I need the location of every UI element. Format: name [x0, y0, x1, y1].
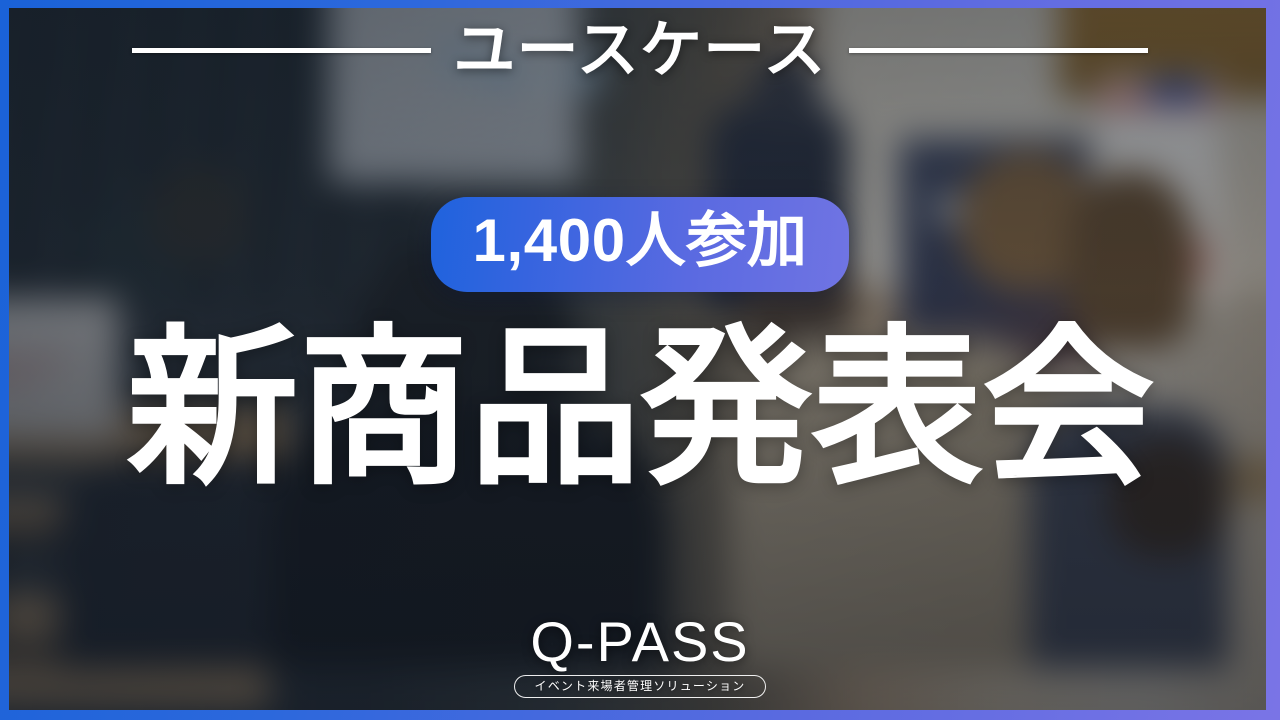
- brand-wordmark: Q-PASS: [530, 614, 749, 670]
- promo-banner: ユースケース 1,400人参加 新商品発表会 Q-PASS イベント来場者管理ソ…: [0, 0, 1280, 720]
- kicker-row: ユースケース: [0, 18, 1280, 83]
- page-title: 新商品発表会: [127, 322, 1154, 497]
- brand-logo-lockup: Q-PASS イベント来場者管理ソリューション: [0, 614, 1280, 698]
- headline-wrap: 新商品発表会: [0, 322, 1280, 497]
- banner-content: ユースケース 1,400人参加 新商品発表会 Q-PASS イベント来場者管理ソ…: [0, 0, 1280, 720]
- kicker-rule-left-icon: [132, 48, 431, 53]
- kicker-label: ユースケース: [453, 18, 826, 83]
- attendance-badge-label: 1,400人参加: [473, 206, 808, 277]
- kicker-rule-right-icon: [849, 48, 1148, 53]
- attendance-badge-wrap: 1,400人参加: [0, 197, 1280, 292]
- brand-tagline: イベント来場者管理ソリューション: [514, 675, 767, 698]
- attendance-badge: 1,400人参加: [431, 197, 850, 292]
